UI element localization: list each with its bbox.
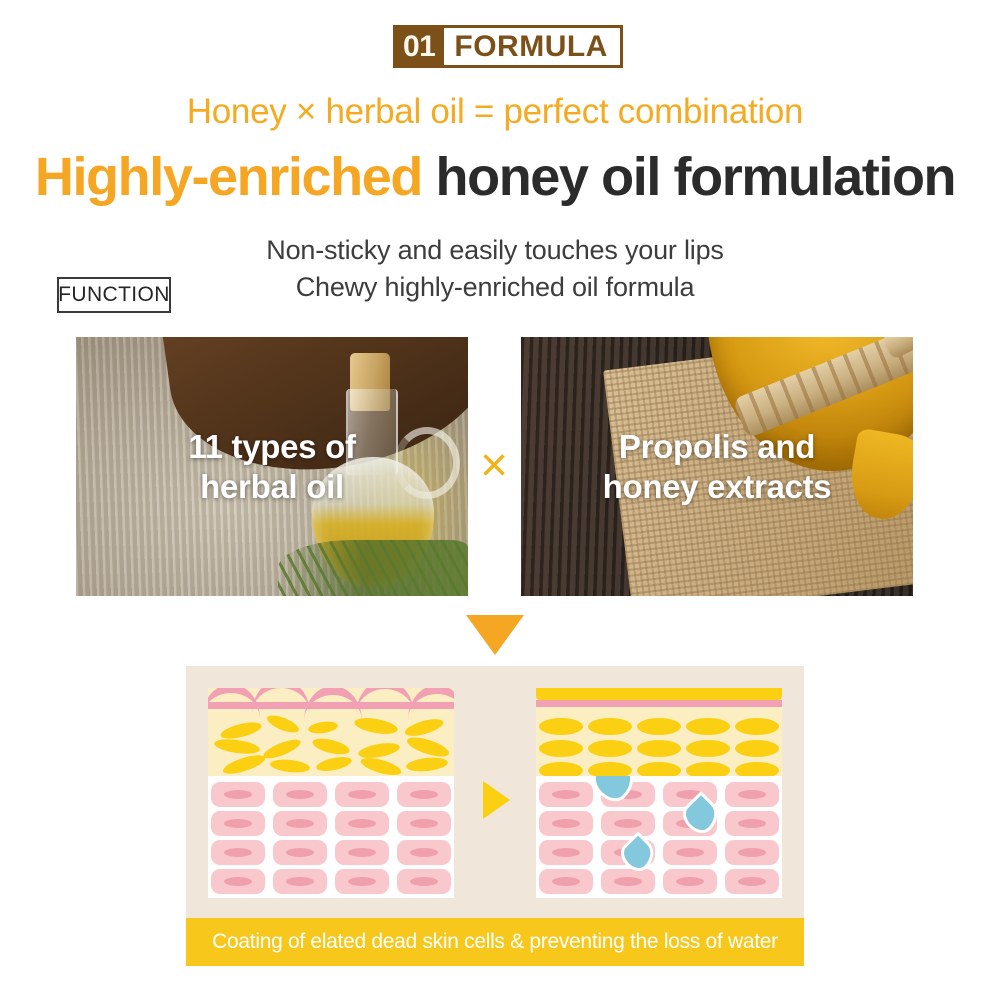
epidermis-after (536, 688, 782, 776)
cell-nucleus (348, 877, 376, 886)
diagram-caption-bar: Coating of elated dead skin cells & prev… (186, 918, 804, 966)
skin-cell (725, 811, 779, 836)
skin-cell-row (539, 811, 779, 836)
skin-cell (539, 869, 593, 894)
section-badge: 01 FORMULA (393, 25, 623, 68)
skin-cell (663, 840, 717, 865)
skin-cell-row (211, 782, 451, 807)
subtitle: Honey × herbal oil = perfect combination (0, 92, 990, 132)
herbal-oil-photo-card: 11 types of herbal oil (76, 337, 468, 596)
skin-cell (539, 840, 593, 865)
herbal-oil-caption: 11 types of herbal oil (76, 337, 468, 596)
oil-particle (735, 762, 779, 776)
honey-photo-card: Propolis and honey extracts (521, 337, 913, 596)
cell-nucleus (348, 848, 376, 857)
cell-nucleus (410, 819, 438, 828)
oil-particle (265, 712, 301, 736)
dermis-after (536, 776, 782, 898)
section-number: 01 (396, 28, 444, 65)
cell-nucleus (676, 877, 704, 886)
skin-cell-row (539, 782, 779, 807)
oil-particle (735, 718, 779, 735)
oil-particle (588, 718, 632, 735)
oil-particle (307, 720, 338, 735)
cell-nucleus (738, 790, 766, 799)
skin-cell (273, 869, 327, 894)
cell-nucleus (614, 819, 642, 828)
skin-surface-line (536, 700, 782, 707)
skin-cell-row (211, 869, 451, 894)
oil-particle (539, 718, 583, 735)
diagram-caption: Coating of elated dead skin cells & prev… (212, 930, 778, 954)
function-line-2: Chewy highly-enriched oil formula (0, 269, 990, 306)
skin-cell (601, 811, 655, 836)
herbal-oil-caption-line-2: herbal oil (200, 467, 344, 507)
cell-nucleus (738, 877, 766, 886)
page-title: Highly-enriched honey oil formulation (0, 146, 990, 208)
skin-cell (335, 840, 389, 865)
herbal-oil-caption-line-1: 11 types of (188, 427, 355, 467)
skin-cell (335, 782, 389, 807)
oil-particle (539, 740, 583, 757)
skin-cell (539, 811, 593, 836)
oil-layer-row (539, 718, 779, 735)
skin-cell (397, 811, 451, 836)
cell-nucleus (410, 848, 438, 857)
cell-nucleus (738, 848, 766, 857)
skin-cell (725, 782, 779, 807)
cell-nucleus (224, 790, 252, 799)
skin-cell-row (539, 840, 779, 865)
cell-nucleus (286, 819, 314, 828)
cell-nucleus (224, 848, 252, 857)
cell-nucleus (224, 877, 252, 886)
cell-nucleus (286, 848, 314, 857)
skin-cell (725, 869, 779, 894)
oil-particle (637, 762, 681, 776)
honey-caption-line-2: honey extracts (603, 467, 832, 507)
oil-particle (311, 736, 351, 758)
cell-nucleus (614, 877, 642, 886)
oil-particle (269, 758, 310, 774)
skin-cell (273, 840, 327, 865)
skin-cell (601, 869, 655, 894)
oil-particle (213, 737, 260, 756)
skin-surface-line (208, 702, 454, 709)
cell-nucleus (676, 848, 704, 857)
oil-particle (261, 736, 303, 762)
oil-particle (353, 715, 399, 736)
cell-nucleus (286, 877, 314, 886)
skin-cell-row (211, 811, 451, 836)
oil-particle (735, 740, 779, 757)
skin-cell (211, 782, 265, 807)
skin-cell (335, 811, 389, 836)
cell-nucleus (552, 848, 580, 857)
oil-particle (405, 734, 451, 761)
skin-diagram-panel: Coating of elated dead skin cells & prev… (186, 666, 804, 966)
cell-nucleus (348, 819, 376, 828)
process-arrow-icon (483, 781, 510, 819)
cell-nucleus (410, 877, 438, 886)
skin-cell (539, 782, 593, 807)
skin-cell (397, 840, 451, 865)
skin-cell-row (539, 869, 779, 894)
oil-particle (539, 762, 583, 776)
section-title-formula: FORMULA (444, 28, 619, 65)
oil-particle (221, 752, 267, 776)
cell-nucleus (738, 819, 766, 828)
oil-particle (588, 740, 632, 757)
skin-cell (663, 869, 717, 894)
skin-before (208, 688, 454, 898)
skin-cell (211, 811, 265, 836)
honey-caption: Propolis and honey extracts (521, 337, 913, 596)
skin-flake (252, 688, 310, 714)
cell-nucleus (552, 877, 580, 886)
skin-cell (725, 840, 779, 865)
dermis-before (208, 776, 454, 898)
cell-nucleus (410, 790, 438, 799)
skin-cell (397, 782, 451, 807)
skin-cell (273, 811, 327, 836)
skin-cell (397, 869, 451, 894)
skin-cell (273, 782, 327, 807)
skin-cell (211, 840, 265, 865)
skin-after (536, 688, 782, 898)
skin-cell-row (211, 840, 451, 865)
function-line-1: Non-sticky and easily touches your lips (0, 232, 990, 269)
oil-particle (637, 718, 681, 735)
cell-nucleus (286, 790, 314, 799)
skin-cell (335, 869, 389, 894)
title-highlight: Highly-enriched (35, 147, 422, 207)
oil-coating-band (536, 688, 782, 700)
honey-caption-line-1: Propolis and (619, 427, 815, 467)
cell-nucleus (552, 819, 580, 828)
skin-diagram-illustration (186, 666, 804, 918)
cell-nucleus (552, 790, 580, 799)
oil-particle (686, 762, 730, 776)
epidermis-before (208, 688, 454, 776)
oil-particle (637, 740, 681, 757)
oil-particle (686, 740, 730, 757)
oil-particle (588, 762, 632, 776)
title-rest: honey oil formulation (422, 147, 955, 207)
skin-cell (211, 869, 265, 894)
down-arrow-icon (466, 615, 524, 655)
oil-layer-row (539, 762, 779, 776)
cell-nucleus (224, 819, 252, 828)
oil-particle (359, 754, 403, 776)
function-description: Non-sticky and easily touches your lips … (0, 232, 990, 306)
oil-layer-row (539, 740, 779, 757)
cell-nucleus (348, 790, 376, 799)
oil-particle (686, 718, 730, 735)
multiply-icon: × (470, 442, 518, 490)
oil-particle (405, 756, 448, 773)
oil-particle (315, 754, 353, 773)
